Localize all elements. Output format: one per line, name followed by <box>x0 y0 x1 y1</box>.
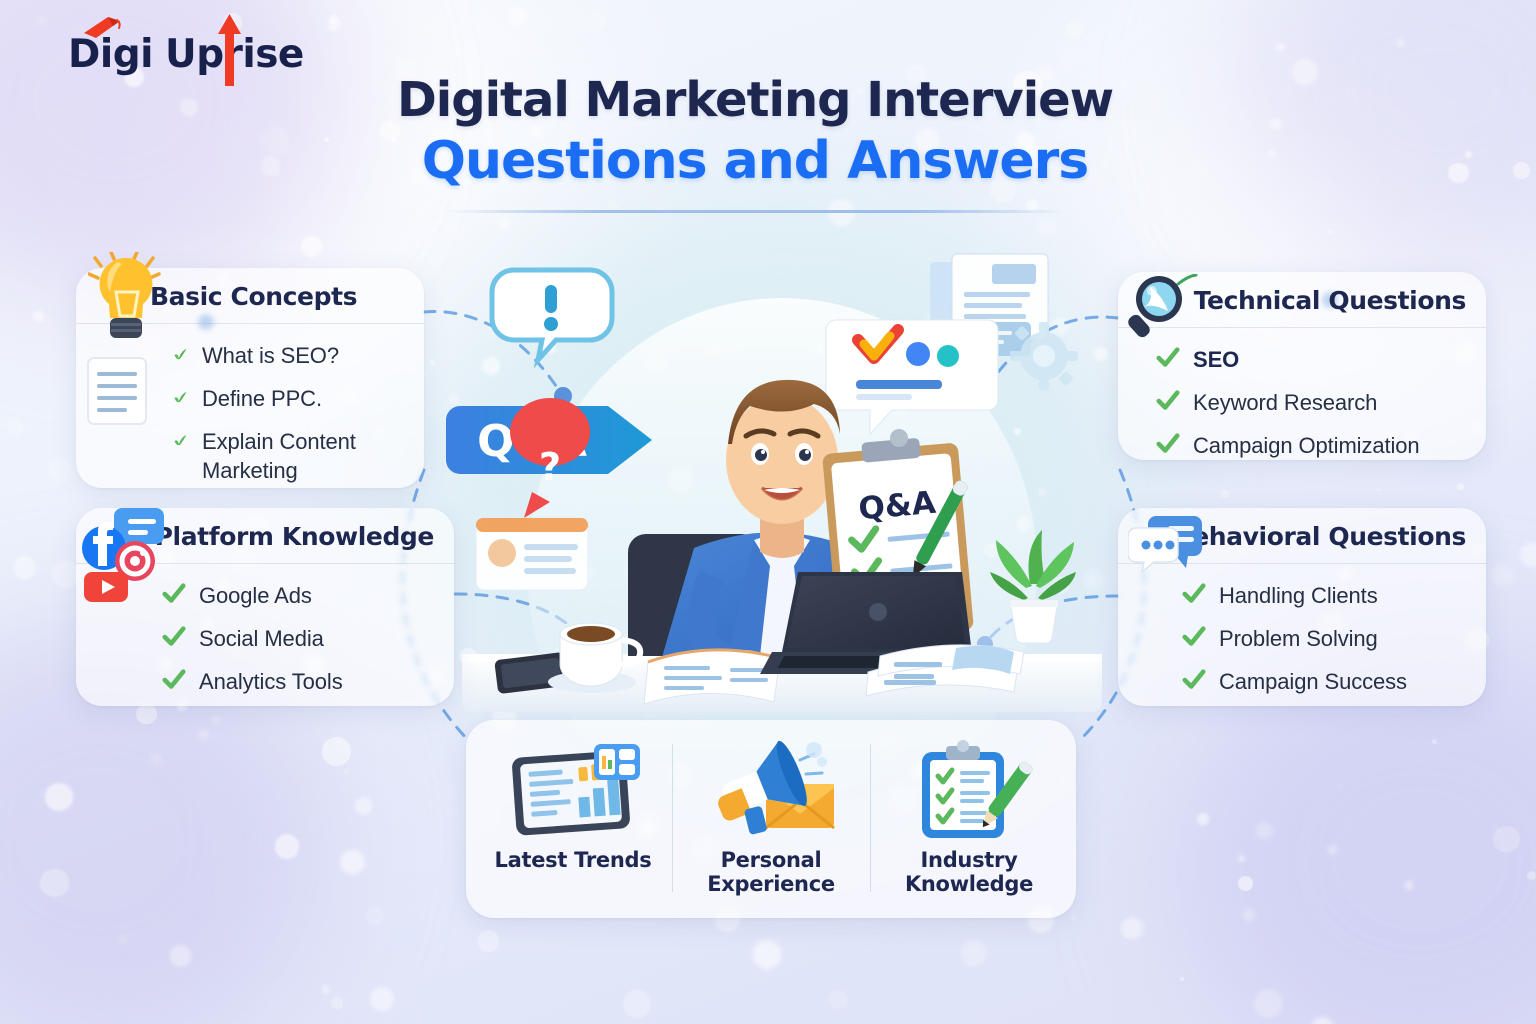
card-behavioral-title: Behavioral Questions <box>1174 522 1466 551</box>
clipboard-pencil-icon <box>894 738 1044 842</box>
check-icon <box>1182 669 1206 691</box>
infographic-canvas: DigiUprise Digital Marketing Interview Q… <box>0 0 1536 1024</box>
page-title: Digital Marketing Interview Questions an… <box>330 72 1180 213</box>
card-basic-title: Basic Concepts <box>150 282 357 311</box>
tablet-analytics-icon <box>498 738 648 842</box>
list-item-label: Define PPC. <box>202 383 322 413</box>
check-icon <box>162 669 186 691</box>
bottom-column-label: Latest Trends <box>495 848 652 872</box>
bottom-column-label: Personal Experience <box>672 848 870 897</box>
clipboard-label: Q&A <box>857 485 937 528</box>
card-technical-header: Technical Questions <box>1118 272 1486 328</box>
title-line-2: Questions and Answers <box>330 131 1180 192</box>
card-bottom-topics[interactable]: Latest Trends <box>466 720 1076 918</box>
id-card-icon <box>476 518 588 590</box>
bottom-column-latest-trends[interactable]: Latest Trends <box>474 730 672 906</box>
bottom-column-personal-experience[interactable]: Personal Experience <box>672 730 870 906</box>
check-icon <box>172 432 189 448</box>
check-icon <box>172 346 189 362</box>
bottom-column-industry-knowledge[interactable]: Industry Knowledge <box>870 730 1068 906</box>
list-item-label: Handling Clients <box>1219 580 1378 610</box>
card-platform-title: Platform Knowledge <box>155 522 434 551</box>
list-item[interactable]: Problem Solving <box>1182 623 1466 653</box>
card-platform-knowledge[interactable]: Platform Knowledge Google Ads Social Med… <box>76 508 454 706</box>
card-basic-header: Basic Concepts <box>76 268 424 324</box>
list-item[interactable]: Handling Clients <box>1182 580 1466 610</box>
title-divider <box>445 210 1065 213</box>
list-item-label: Campaign Optimization <box>1193 430 1420 460</box>
check-icon <box>172 389 189 405</box>
logo-word-one: Digi <box>68 32 153 77</box>
list-item-label: Campaign Success <box>1219 666 1407 696</box>
background-tint-top-right <box>1230 0 1536 280</box>
list-item-label: Explain Content Marketing <box>202 426 404 485</box>
card-platform-list: Google Ads Social Media Analytics Tools <box>76 564 454 714</box>
check-icon <box>162 583 186 605</box>
card-basic-list: What is SEO? Define PPC. Explain Content… <box>76 324 424 503</box>
card-platform-header: Platform Knowledge <box>76 508 454 564</box>
list-item[interactable]: Analytics Tools <box>162 666 434 696</box>
floating-panel <box>594 744 640 780</box>
question-bubble-label: ? <box>539 445 561 489</box>
check-icon <box>1182 626 1206 648</box>
card-technical-questions[interactable]: Technical Questions SEO Keyword Research… <box>1118 272 1486 460</box>
list-item-label: What is SEO? <box>202 340 339 370</box>
check-icon <box>162 626 186 648</box>
face <box>726 396 838 524</box>
hero-illustration: Q&A ? <box>432 248 1132 748</box>
exclaim-bubble-icon <box>492 270 612 360</box>
title-line-1: Digital Marketing Interview <box>330 72 1180 129</box>
check-icon <box>1156 433 1180 455</box>
list-item-label: Analytics Tools <box>199 666 343 696</box>
card-technical-list: SEO Keyword Research Campaign Optimizati… <box>1118 328 1486 478</box>
list-item[interactable]: Explain Content Marketing <box>172 426 404 485</box>
list-item[interactable]: Keyword Research <box>1156 387 1466 417</box>
logo-word-two: Uprise <box>165 32 304 77</box>
list-item[interactable]: Google Ads <box>162 580 434 610</box>
card-behavioral-list: Handling Clients Problem Solving Campaig… <box>1118 564 1486 714</box>
list-item-label: Google Ads <box>199 580 312 610</box>
list-item-label: Problem Solving <box>1219 623 1378 653</box>
card-behavioral-questions[interactable]: Behavioral Questions Handling Clients Pr… <box>1118 508 1486 706</box>
card-behavioral-header: Behavioral Questions <box>1118 508 1486 564</box>
bottom-column-label: Industry Knowledge <box>870 848 1068 897</box>
list-item-label: Social Media <box>199 623 324 653</box>
list-item[interactable]: SEO <box>1156 344 1466 374</box>
card-basic-concepts[interactable]: Basic Concepts What is SEO? Define PPC. … <box>76 268 424 488</box>
list-item-label: Keyword Research <box>1193 387 1377 417</box>
list-item[interactable]: Campaign Success <box>1182 666 1466 696</box>
list-item[interactable]: Define PPC. <box>172 383 404 413</box>
check-icon <box>1182 583 1206 605</box>
gear-icon <box>1010 322 1078 390</box>
card-technical-title: Technical Questions <box>1194 286 1466 315</box>
list-item[interactable]: Campaign Optimization <box>1156 430 1466 460</box>
check-icon <box>1156 390 1180 412</box>
megaphone-envelope-icon <box>696 738 846 842</box>
list-item[interactable]: What is SEO? <box>172 340 404 370</box>
check-icon <box>1156 347 1180 369</box>
list-item-label: SEO <box>1193 344 1239 374</box>
brand-logo: DigiUprise <box>68 28 304 80</box>
list-item[interactable]: Social Media <box>162 623 434 653</box>
